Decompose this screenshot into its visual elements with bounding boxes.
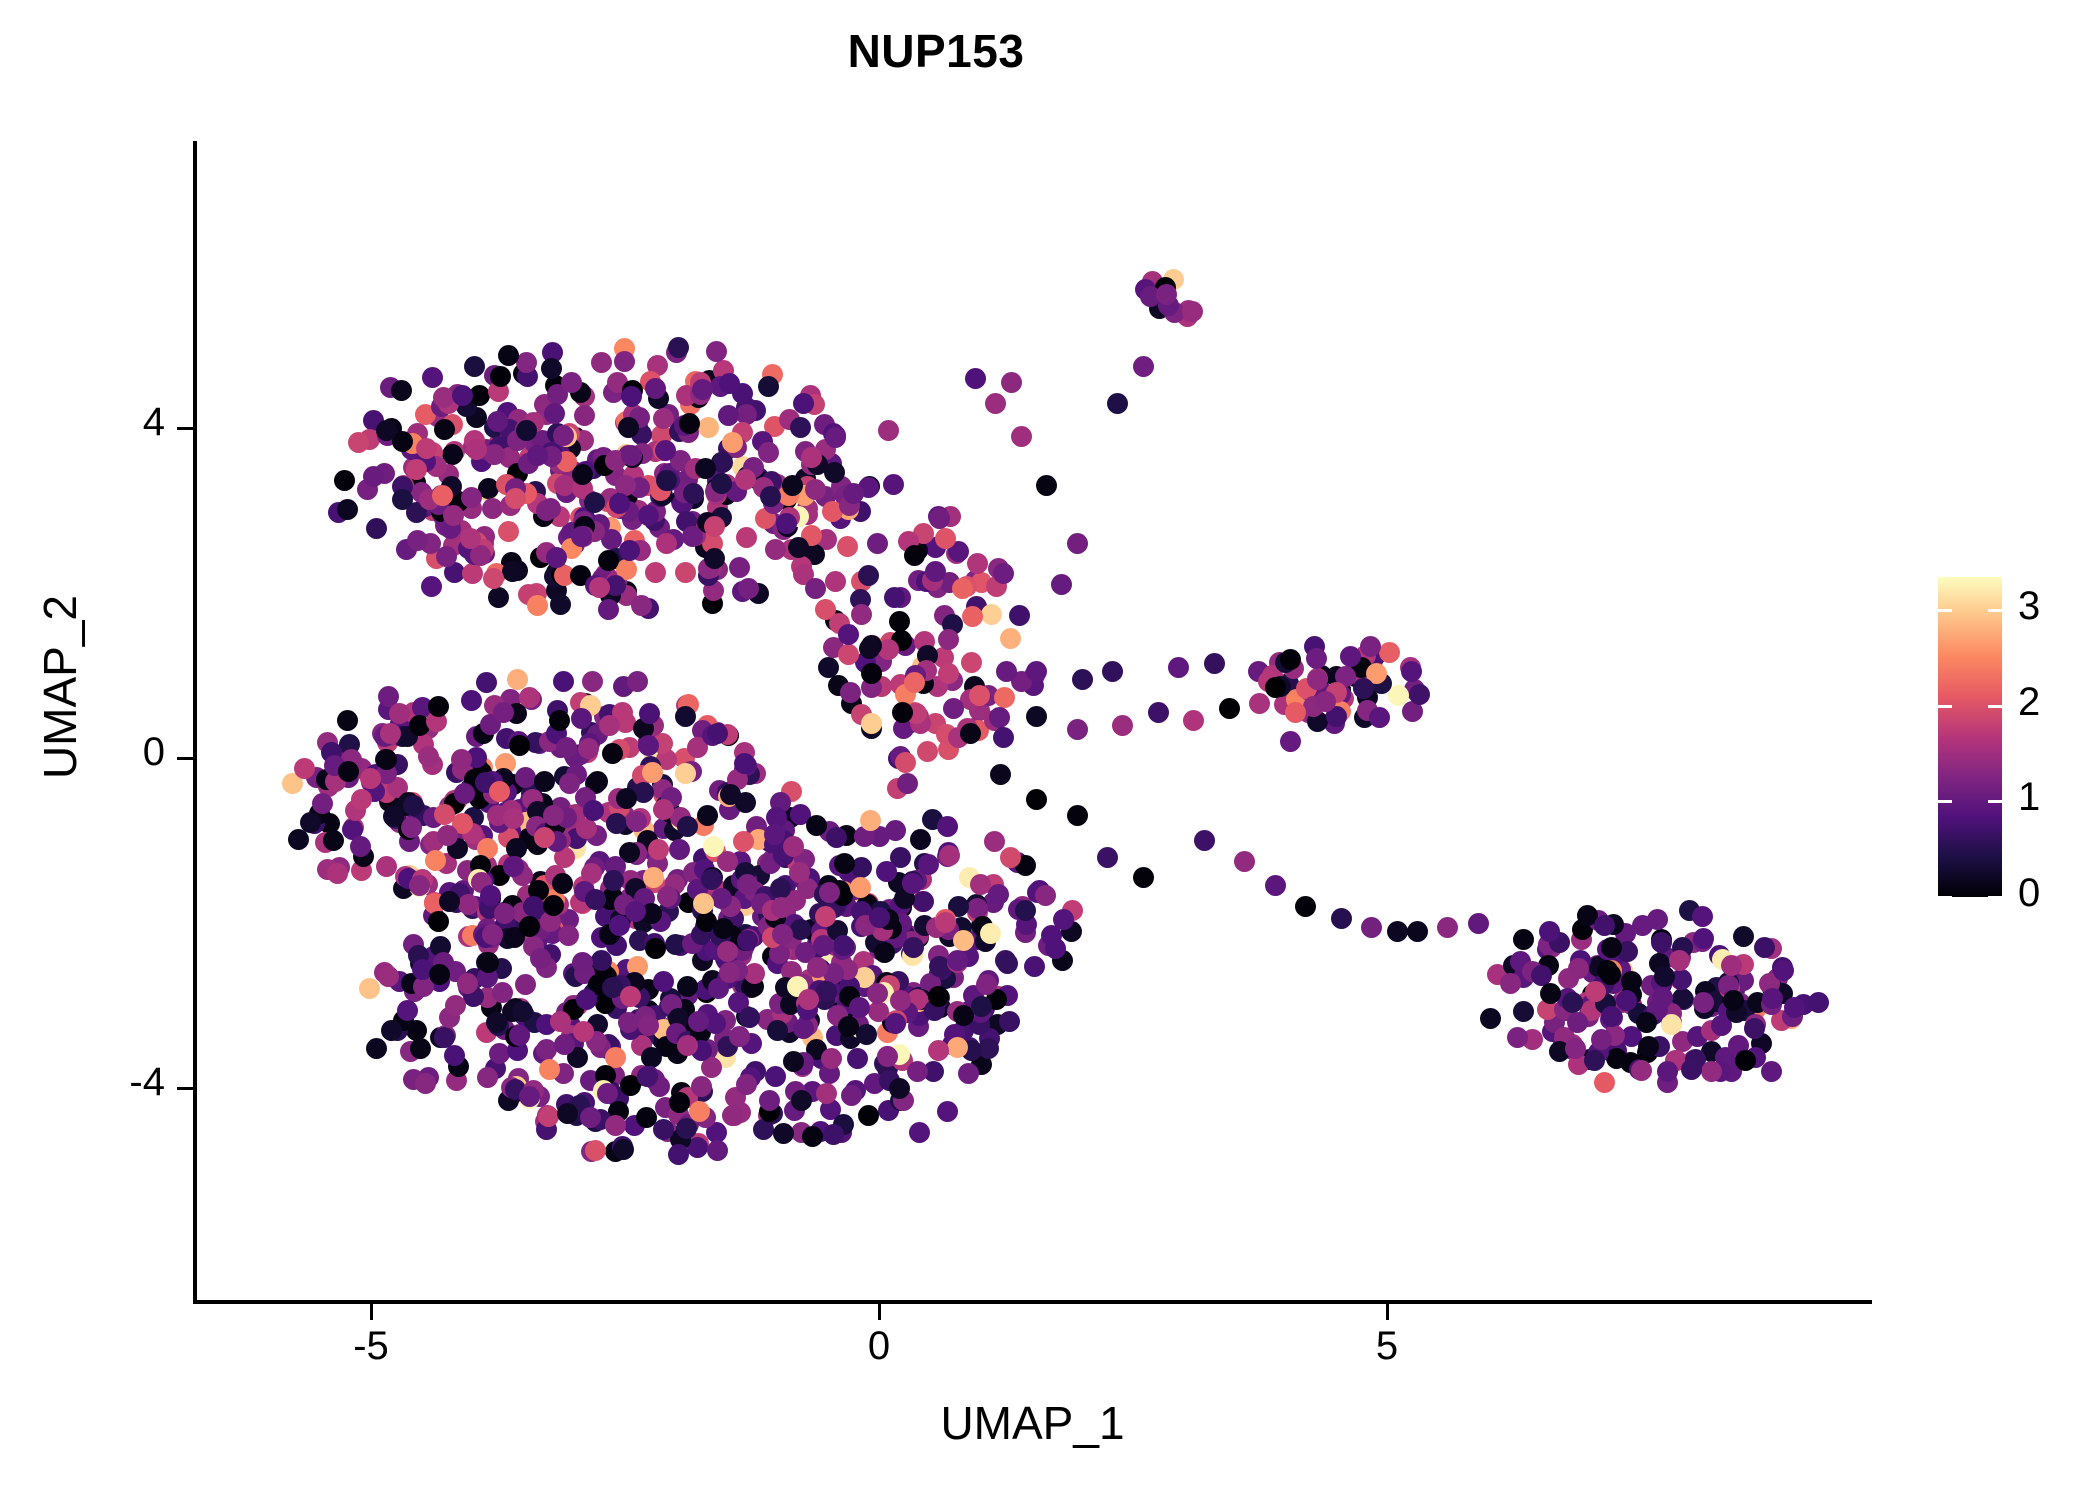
scatter-point <box>1701 1061 1722 1082</box>
scatter-point <box>620 986 641 1007</box>
scatter-point <box>574 405 595 426</box>
scatter-point <box>558 925 579 946</box>
scatter-point <box>505 488 526 509</box>
scatter-point <box>707 723 728 744</box>
scatter-point <box>544 403 565 424</box>
scatter-point <box>994 687 1015 708</box>
scatter-point <box>1026 706 1047 727</box>
scatter-point <box>1733 926 1754 947</box>
scatter-point <box>764 824 785 845</box>
scatter-point <box>1591 1029 1612 1050</box>
scatter-point <box>889 1078 910 1099</box>
scatter-point <box>858 1105 879 1126</box>
scatter-point <box>519 916 540 937</box>
scatter-point <box>1507 1027 1528 1048</box>
scatter-point <box>1721 955 1742 976</box>
scatter-point <box>837 536 858 557</box>
scatter-point <box>428 696 449 717</box>
scatter-point <box>598 599 619 620</box>
scatter-point <box>904 672 925 693</box>
scatter-point <box>816 1083 837 1104</box>
scatter-point <box>490 366 511 387</box>
scatter-point <box>1168 657 1189 678</box>
scatter-point <box>805 578 826 599</box>
scatter-point <box>476 672 497 693</box>
scatter-point <box>1315 691 1336 712</box>
scatter-point <box>648 839 669 860</box>
scatter-point <box>494 903 515 924</box>
scatter-point <box>1468 913 1489 934</box>
scatter-point <box>1133 867 1154 888</box>
colorbar-tick-mark <box>1988 705 2002 708</box>
scatter-point <box>656 533 677 554</box>
scatter-point <box>457 973 478 994</box>
scatter-point <box>572 952 593 973</box>
scatter-point <box>509 735 530 756</box>
scatter-point <box>765 1066 786 1087</box>
page-title: NUP153 <box>0 24 1872 78</box>
scatter-point <box>645 378 666 399</box>
scatter-point <box>376 420 397 441</box>
scatter-point <box>1387 921 1408 942</box>
scatter-point <box>851 604 872 625</box>
scatter-point <box>582 671 603 692</box>
scatter-point <box>366 1038 387 1059</box>
scatter-point <box>391 380 412 401</box>
scatter-point <box>790 919 811 940</box>
y-axis-line <box>193 141 197 1304</box>
scatter-point <box>776 513 797 534</box>
scatter-point <box>1513 929 1534 950</box>
scatter-point <box>381 1020 402 1041</box>
scatter-point <box>578 738 599 759</box>
scatter-point <box>668 1144 689 1165</box>
scatter-point <box>493 702 514 723</box>
scatter-point <box>619 540 640 561</box>
scatter-point <box>1657 1061 1678 1082</box>
scatter-point <box>1102 661 1123 682</box>
scatter-point <box>445 995 466 1016</box>
scatter-point <box>509 1025 530 1046</box>
scatter-point <box>1652 987 1673 1008</box>
scatter-point <box>1204 653 1225 674</box>
scatter-point <box>410 1038 431 1059</box>
scatter-point <box>1133 356 1154 377</box>
scatter-point <box>363 466 384 487</box>
scatter-point <box>484 444 505 465</box>
scatter-point <box>480 885 501 906</box>
scatter-point <box>573 1021 594 1042</box>
scatter-point <box>976 974 997 995</box>
scatter-point <box>935 912 956 933</box>
scatter-point <box>1735 1050 1756 1071</box>
colorbar-tick-label: 3 <box>2018 584 2040 629</box>
scatter-point <box>826 827 847 848</box>
scatter-point <box>288 829 309 850</box>
scatter-point <box>838 624 859 645</box>
scatter-point <box>729 557 750 578</box>
scatter-point <box>643 867 664 888</box>
scatter-point <box>656 470 677 491</box>
scatter-point <box>1360 636 1381 657</box>
scatter-point <box>967 553 988 574</box>
scatter-point <box>638 505 659 526</box>
scatter-point <box>1353 678 1374 699</box>
scatter-point <box>488 587 509 608</box>
scatter-point <box>451 749 472 770</box>
scatter-point <box>707 1140 728 1161</box>
scatter-point <box>461 690 482 711</box>
scatter-point <box>616 788 637 809</box>
scatter-point <box>736 527 757 548</box>
x-tick-label: -5 <box>311 1324 431 1369</box>
scatter-point <box>527 445 548 466</box>
scatter-point <box>960 723 981 744</box>
x-tick-label: 5 <box>1327 1324 1447 1369</box>
scatter-point <box>825 571 846 592</box>
scatter-point <box>515 974 536 995</box>
scatter-point <box>584 492 605 513</box>
scatter-point <box>675 763 696 784</box>
scatter-point <box>668 337 689 358</box>
scatter-point <box>397 1000 418 1021</box>
scatter-point <box>1107 393 1128 414</box>
scatter-point <box>801 447 822 468</box>
scatter-point <box>638 1015 659 1036</box>
scatter-point <box>767 1020 788 1041</box>
scatter-point <box>1001 372 1022 393</box>
scatter-point <box>1097 847 1118 868</box>
colorbar-tick-mark <box>1988 896 2002 899</box>
scatter-point <box>597 1083 618 1104</box>
scatter-point <box>697 805 718 826</box>
scatter-point <box>735 469 756 490</box>
scatter-point <box>928 986 949 1007</box>
scatter-point <box>1480 1008 1501 1029</box>
scatter-point <box>483 568 504 589</box>
scatter-point <box>380 723 401 744</box>
scatter-point <box>519 687 540 708</box>
scatter-point <box>657 886 678 907</box>
scatter-point <box>1636 1012 1657 1033</box>
scatter-point <box>860 810 881 831</box>
scatter-point <box>585 889 606 910</box>
scatter-point <box>409 875 430 896</box>
scatter-point <box>415 1073 436 1094</box>
scatter-point <box>1568 958 1589 979</box>
scatter-point <box>988 884 1009 905</box>
scatter-point <box>543 895 564 916</box>
scatter-point <box>1067 805 1088 826</box>
scatter-point <box>1295 896 1316 917</box>
scatter-point <box>889 611 910 632</box>
scatter-point <box>587 771 608 792</box>
scatter-point <box>856 1024 877 1045</box>
scatter-point <box>1513 1001 1534 1022</box>
scatter-point <box>599 715 620 736</box>
scatter-point <box>432 485 453 506</box>
colorbar-tick-mark <box>1938 705 1952 708</box>
scatter-point <box>711 888 732 909</box>
scatter-point <box>683 483 704 504</box>
scatter-point <box>626 811 647 832</box>
scatter-point <box>928 1040 949 1061</box>
scatter-point <box>847 1048 868 1069</box>
scatter-point <box>1331 908 1352 929</box>
scatter-point <box>498 521 519 542</box>
scatter-point <box>849 997 870 1018</box>
scatter-point <box>416 438 437 459</box>
scatter-point <box>989 707 1010 728</box>
scatter-point <box>1616 990 1637 1011</box>
scatter-point <box>1600 964 1621 985</box>
scatter-point <box>996 661 1017 682</box>
scatter-point <box>359 978 380 999</box>
x-tick-mark <box>370 1304 373 1320</box>
scatter-point <box>962 606 983 627</box>
scatter-point <box>1265 875 1286 896</box>
scatter-point <box>1280 649 1301 670</box>
scatter-point <box>421 576 442 597</box>
scatter-point <box>1754 937 1775 958</box>
scatter-point <box>819 882 840 903</box>
scatter-point <box>1567 1012 1588 1033</box>
scatter-point <box>580 1107 601 1128</box>
scatter-point <box>993 563 1014 584</box>
scatter-point <box>1035 885 1056 906</box>
scatter-point <box>1067 719 1088 740</box>
scatter-point <box>1762 988 1783 1009</box>
scatter-point <box>1000 628 1021 649</box>
scatter-point <box>885 1013 906 1034</box>
scatter-point <box>838 644 859 665</box>
scatter-point <box>765 539 786 560</box>
scatter-point <box>655 440 676 461</box>
scatter-point <box>958 1063 979 1084</box>
scatter-point <box>534 771 555 792</box>
scatter-point <box>428 911 449 932</box>
scatter-point <box>1761 1061 1782 1082</box>
scatter-point <box>1015 900 1036 921</box>
scatter-point <box>704 548 725 569</box>
scatter-point <box>1361 917 1382 938</box>
scatter-point <box>348 432 369 453</box>
scatter-point <box>937 816 958 837</box>
scatter-point <box>519 1086 540 1107</box>
scatter-point <box>546 547 567 568</box>
scatter-point <box>771 897 792 918</box>
scatter-point <box>571 708 592 729</box>
scatter-point <box>1692 906 1713 927</box>
scatter-point <box>591 352 612 373</box>
scatter-point <box>838 1016 859 1037</box>
scatter-point <box>805 479 826 500</box>
scatter-point <box>418 746 439 767</box>
scatter-point <box>883 474 904 495</box>
scatter-point <box>773 1123 794 1144</box>
scatter-point <box>965 368 986 389</box>
scatter-point <box>985 393 1006 414</box>
scatter-point <box>938 629 959 650</box>
x-tick-mark <box>878 1304 881 1320</box>
scatter-point <box>904 545 925 566</box>
scatter-point <box>711 473 732 494</box>
scatter-point <box>1401 661 1422 682</box>
scatter-point <box>1632 915 1653 936</box>
scatter-point <box>1744 1018 1765 1039</box>
scatter-point <box>943 698 964 719</box>
scatter-point <box>878 420 899 441</box>
scatter-point <box>1437 917 1458 938</box>
scatter-point <box>609 493 630 514</box>
scatter-point <box>458 894 479 915</box>
scatter-point <box>802 1126 823 1147</box>
x-axis-line <box>193 1300 1872 1304</box>
scatter-point <box>576 818 597 839</box>
scatter-point <box>401 817 422 838</box>
scatter-point <box>512 1001 533 1022</box>
scatter-point <box>589 577 610 598</box>
scatter-point <box>913 891 934 912</box>
scatter-point <box>821 1048 842 1069</box>
scatter-point <box>1194 830 1215 851</box>
scatter-point <box>729 1026 750 1047</box>
scatter-point <box>323 830 344 851</box>
scatter-point <box>675 562 696 583</box>
scatter-point <box>1112 715 1133 736</box>
scatter-point <box>737 874 758 895</box>
scatter-point <box>407 530 428 551</box>
scatter-point <box>758 376 779 397</box>
scatter-point <box>1234 851 1255 872</box>
scatter-point <box>645 562 666 583</box>
scatter-point <box>553 671 574 692</box>
scatter-point <box>462 563 483 584</box>
scatter-point <box>638 735 659 756</box>
scatter-point <box>1669 950 1690 971</box>
scatter-point <box>953 930 974 951</box>
scatter-point <box>550 594 571 615</box>
scatter-point <box>867 983 888 1004</box>
scatter-point <box>642 762 663 783</box>
scatter-point <box>682 526 703 547</box>
scatter-point <box>1409 684 1430 705</box>
scatter-point <box>1651 932 1672 953</box>
scatter-point <box>713 918 734 939</box>
scatter-point <box>677 816 698 837</box>
scatter-point <box>1307 669 1328 690</box>
colorbar-tick-mark <box>1988 609 2002 612</box>
scatter-point <box>876 861 897 882</box>
scatter-point <box>627 671 648 692</box>
scatter-point <box>645 938 666 959</box>
scatter-point <box>621 445 642 466</box>
scatter-point <box>338 761 359 782</box>
scatter-point <box>997 953 1018 974</box>
scatter-point <box>1369 707 1390 728</box>
scatter-point <box>1631 1060 1652 1081</box>
scatter-point <box>793 393 814 414</box>
scatter-point <box>527 595 548 616</box>
scatter-point <box>947 1037 968 1058</box>
colorbar-tick-label: 1 <box>2018 775 2040 820</box>
chart-root: NUP153 -505 40-4 UMAP_1 UMAP_2 3210 <box>0 0 2100 1500</box>
scatter-point <box>704 516 725 537</box>
colorbar-tick-label: 2 <box>2018 680 2040 725</box>
scatter-point <box>790 417 811 438</box>
scatter-point <box>798 989 819 1010</box>
scatter-point <box>895 752 916 773</box>
scatter-point <box>981 604 1002 625</box>
scatter-point <box>703 836 724 857</box>
scatter-point <box>1379 642 1400 663</box>
scatter-point <box>1183 710 1204 731</box>
scatter-point <box>376 856 397 877</box>
scatter-point <box>351 789 372 810</box>
scatter-point <box>436 546 457 567</box>
scatter-point <box>406 459 427 480</box>
scatter-point <box>1045 938 1066 959</box>
scatter-point <box>618 1012 639 1033</box>
scatter-point <box>553 425 574 446</box>
scatter-point <box>793 1018 814 1039</box>
scatter-point <box>1249 693 1270 714</box>
scatter-point <box>676 1118 697 1139</box>
scatter-point <box>549 710 570 731</box>
colorbar-tick-label: 0 <box>2018 871 2040 916</box>
scatter-point <box>360 768 381 789</box>
scatter-point <box>337 499 358 520</box>
scatter-point <box>971 996 992 1017</box>
scatter-point <box>753 1119 774 1140</box>
scatter-point <box>1584 1050 1605 1071</box>
scatter-point <box>422 367 443 388</box>
scatter-point <box>1000 847 1021 868</box>
scatter-point <box>961 652 982 673</box>
scatter-point <box>902 873 923 894</box>
y-axis-label: UMAP_2 <box>33 437 87 937</box>
scatter-point <box>758 442 779 463</box>
scatter-point <box>938 663 959 684</box>
scatter-point <box>1219 698 1240 719</box>
y-tick-mark <box>177 427 193 430</box>
scatter-point <box>523 896 544 917</box>
scatter-point <box>677 1035 698 1056</box>
scatter-point <box>1808 992 1829 1013</box>
scatter-point <box>1681 1059 1702 1080</box>
scatter-point <box>1723 990 1744 1011</box>
scatter-point <box>1601 1006 1622 1027</box>
scatter-panel <box>196 141 1872 1302</box>
scatter-point <box>720 784 741 805</box>
scatter-point <box>884 587 905 608</box>
scatter-point <box>980 923 1001 944</box>
scatter-point <box>993 727 1014 748</box>
colorbar-tick-mark <box>1988 800 2002 803</box>
scatter-point <box>698 417 719 438</box>
scatter-point <box>788 537 809 558</box>
scatter-point <box>739 1007 760 1028</box>
scatter-point <box>677 976 698 997</box>
scatter-point <box>1407 921 1428 942</box>
scatter-point <box>937 1101 958 1122</box>
scatter-point <box>733 831 754 852</box>
scatter-point <box>477 1067 498 1088</box>
scatter-point <box>897 773 918 794</box>
scatter-point <box>706 341 727 362</box>
scatter-point <box>1773 960 1794 981</box>
scatter-point <box>867 533 888 554</box>
